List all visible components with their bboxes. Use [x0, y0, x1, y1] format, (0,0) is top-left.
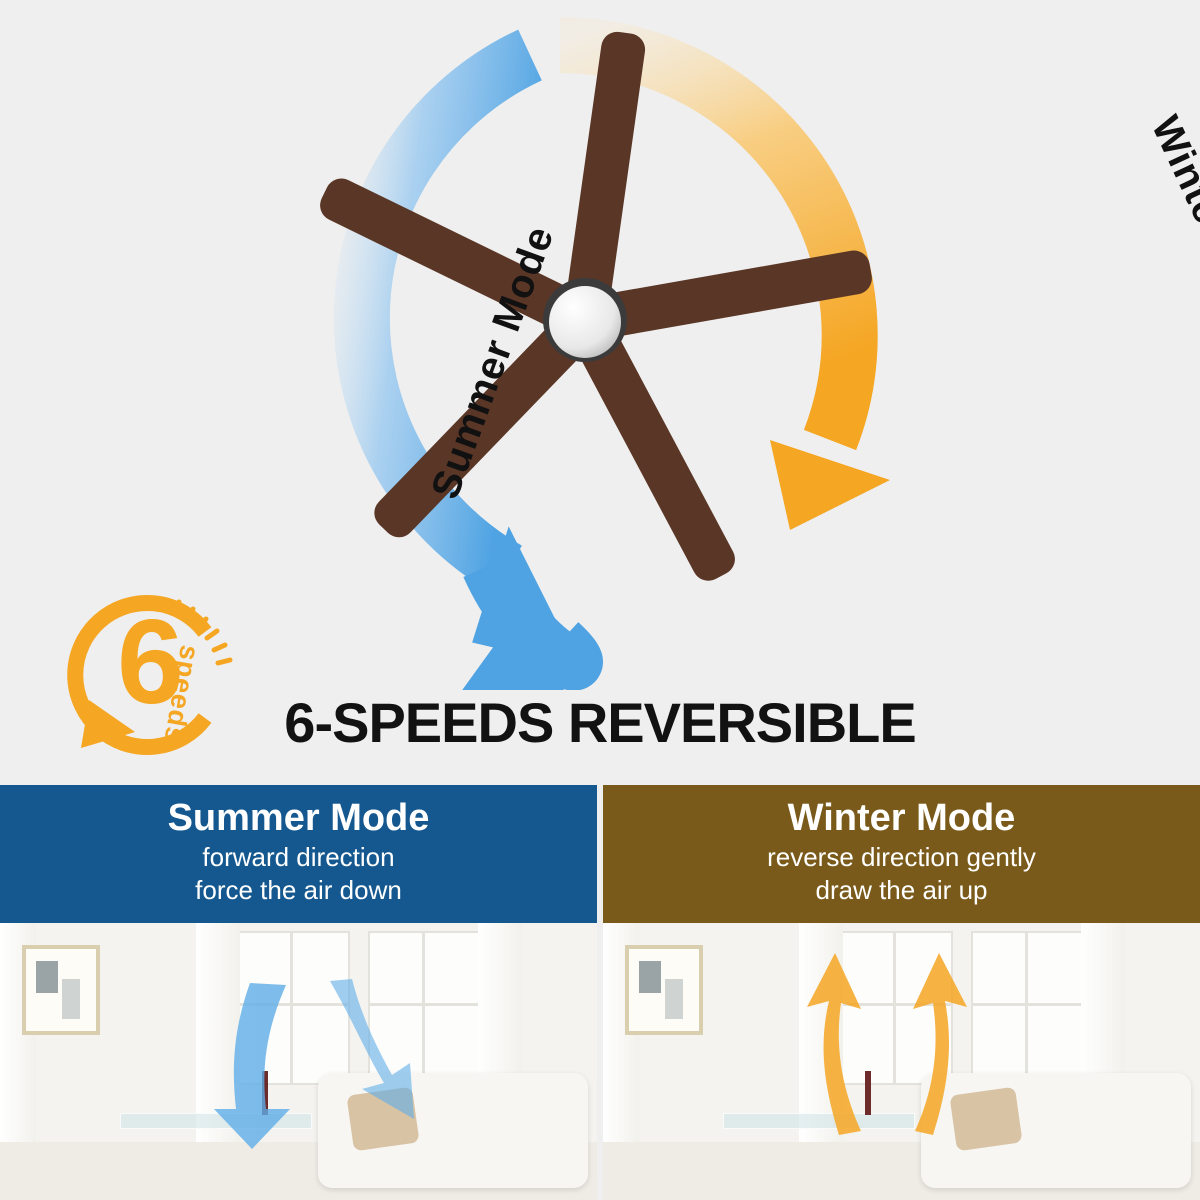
- summer-airflow-arrows: [0, 923, 597, 1200]
- fan-illustration: Summer Mode Winter Mode: [230, 10, 990, 690]
- mode-arrows-svg: [230, 10, 990, 690]
- mode-panels: Summer Mode forward direction force the …: [0, 785, 1200, 1200]
- summer-room-photo: [0, 923, 597, 1200]
- summer-arrow-head: [455, 566, 576, 690]
- winter-panel-subtitle-1: reverse direction gently: [603, 843, 1200, 872]
- hero-section: Summer Mode Winter Mode 6 speeds 6-SPEED: [0, 0, 1200, 785]
- winter-room-photo: [603, 923, 1200, 1200]
- headline: 6-SPEEDS REVERSIBLE: [0, 690, 1200, 755]
- summer-panel-title: Summer Mode: [0, 799, 597, 839]
- winter-panel-bar: Winter Mode reverse direction gently dra…: [603, 785, 1200, 923]
- summer-panel-subtitle-1: forward direction: [0, 843, 597, 872]
- winter-mode-label: Winter Mode: [1142, 109, 1200, 355]
- winter-airflow-arrows: [603, 923, 1200, 1200]
- product-feature-graphic: Summer Mode Winter Mode 6 speeds 6-SPEED: [0, 0, 1200, 1200]
- winter-panel-subtitle-2: draw the air up: [603, 876, 1200, 905]
- summer-panel-bar: Summer Mode forward direction force the …: [0, 785, 597, 923]
- winter-panel: Winter Mode reverse direction gently dra…: [603, 785, 1200, 1200]
- summer-panel-subtitle-2: force the air down: [0, 876, 597, 905]
- winter-panel-title: Winter Mode: [603, 799, 1200, 839]
- summer-panel: Summer Mode forward direction force the …: [0, 785, 597, 1200]
